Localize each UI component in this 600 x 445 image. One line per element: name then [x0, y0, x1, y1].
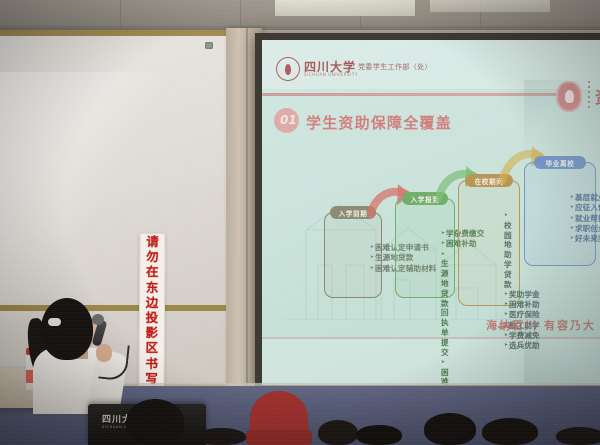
section-number: 01	[280, 113, 297, 127]
projection-warning-sign: 请勿在东边投影区书写	[138, 233, 165, 391]
audience-head	[556, 427, 600, 445]
lecture-hall-photo: 请勿在东边投影区书写 四川大学 SICHUAN UNIVERSITY 党委学生工…	[0, 0, 600, 445]
list-item: 困难补助	[504, 300, 515, 310]
list-item: 应征入伍补偿	[570, 203, 591, 213]
speaker-hair-tie	[48, 318, 61, 326]
university-seal-icon	[276, 57, 300, 81]
column-items-graduation: 基层就业补偿 应征入伍补偿 就业帮扶补助 求职创业补贴 好未来奖学金	[530, 193, 591, 244]
badge-label: 资助	[595, 84, 600, 108]
section-title: 学生资助保障全覆盖	[306, 112, 452, 133]
badge-dotted-rule	[588, 81, 590, 111]
audience-head	[482, 418, 538, 445]
list-item: 困难认定申请书	[370, 243, 377, 253]
slide-header-rule	[262, 93, 562, 96]
audience-head	[126, 399, 184, 445]
list-item: 好未来奖学金	[570, 234, 591, 244]
list-item: 困难认定材料提交	[441, 358, 450, 385]
section-number-badge: 01	[274, 108, 299, 133]
slide-watermark: 海纳百川 有容乃大	[486, 317, 596, 333]
list-item: 基层就业补偿	[570, 193, 591, 203]
ceiling-light	[275, 0, 415, 16]
wall-pillar-seam	[246, 28, 248, 396]
audience-head	[356, 425, 402, 445]
presentation-slide: 四川大学 SICHUAN UNIVERSITY 党委学生工作部（处） 资助 01…	[262, 40, 600, 385]
list-item: 校园地助学贷款	[504, 211, 515, 289]
column-at-enrollment: 入学报到 学杂费缴交 困难补助 生源地贷款回执单提交 困难认定材料提交	[395, 198, 455, 298]
list-item: 学杂费缴交	[441, 229, 450, 239]
ceiling-light-secondary	[430, 0, 550, 12]
projection-screen: 四川大学 SICHUAN UNIVERSITY 党委学生工作部（处） 资助 01…	[262, 40, 600, 385]
whiteboard-divider	[0, 305, 232, 311]
speaker-hand	[96, 344, 112, 362]
column-header-graduation: 毕业离校	[534, 156, 586, 169]
list-item: 生源地贷款	[370, 253, 377, 263]
university-name-en: SICHUAN UNIVERSITY	[304, 72, 358, 77]
list-item: 生源地贷款回执单提交	[441, 250, 450, 358]
list-item: 求职创业补贴	[570, 224, 591, 234]
whiteboard-bracket	[205, 42, 213, 49]
column-items-at-enrollment: 学杂费缴交 困难补助 生源地贷款回执单提交 困难认定材料提交	[401, 229, 450, 385]
audience-head	[196, 428, 246, 445]
column-items-before-enrollment: 困难认定申请书 生源地贷款 困难认定辅助材料	[330, 243, 377, 274]
microphone-head-icon	[92, 314, 104, 325]
audience-red-hat-brim	[246, 430, 312, 445]
column-in-school: 在校期间 校园地助学贷款 奖助学金 困难补助 医疗保险 勤工助学 学费减免 选兵…	[458, 180, 520, 306]
projection-warning-text: 请勿在东边投影区书写	[139, 234, 164, 386]
department-name: 党委学生工作部（处）	[358, 62, 432, 72]
list-item: 困难认定辅助材料	[370, 264, 377, 274]
audience-head	[318, 420, 358, 445]
funding-badge-icon	[556, 81, 582, 112]
audience-head	[424, 413, 476, 445]
list-item: 困难补助	[441, 239, 450, 249]
list-item: 选兵优助	[504, 341, 515, 351]
speaker-hair	[41, 298, 93, 360]
column-graduation: 毕业离校 基层就业补偿 应征入伍补偿 就业帮扶补助 求职创业补贴 好未来奖学金	[524, 162, 596, 266]
column-before-enrollment: 入学前期 困难认定申请书 生源地贷款 困难认定辅助材料	[324, 212, 382, 298]
list-item: 奖助学金	[504, 290, 515, 300]
list-item: 就业帮扶补助	[570, 214, 591, 224]
